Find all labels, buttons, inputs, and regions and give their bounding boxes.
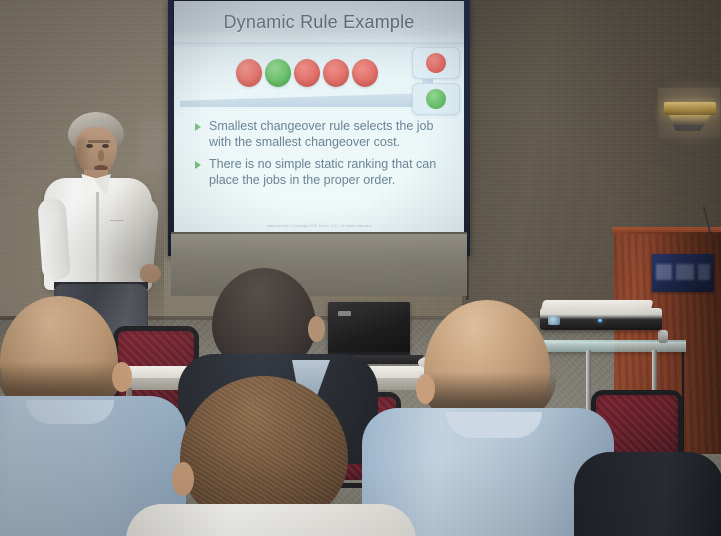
presenter-hand [140, 264, 161, 283]
audience-shirt-collar [446, 412, 542, 438]
job-circle-4 [323, 59, 349, 87]
audience-ear [308, 316, 325, 342]
slide-bullet-item: Smallest changeover rule selects the job… [194, 119, 452, 150]
job-circle-row [236, 59, 376, 93]
slide-bullet-item: There is no simple static ranking that c… [194, 157, 452, 188]
podium-top-edge [612, 227, 721, 234]
sconce-lamp-icon [664, 102, 716, 115]
slide-vignette [174, 1, 464, 235]
audience-member [156, 376, 386, 536]
presenter-shirt-placket [96, 192, 99, 288]
screen-frame-right [464, 0, 470, 256]
audience-member [574, 452, 721, 536]
legend-box-red [412, 47, 460, 79]
slide-footer-copyright: www.xyz.com | Copyright 2011 Server LLC … [174, 224, 464, 228]
audience-ear [112, 362, 132, 392]
bullet-triangle-icon [195, 161, 201, 169]
projected-slide: Dynamic Rule Example [174, 1, 464, 235]
projection-screen-assembly: Dynamic Rule Example [168, 0, 470, 298]
slide-sheen [174, 1, 464, 235]
conveyor-band-graphic [180, 93, 432, 107]
presenter-nose [98, 150, 104, 161]
podium-plaque [652, 254, 714, 292]
job-circle-2 [265, 59, 291, 87]
job-circle-1 [236, 59, 262, 87]
presenter-brow [88, 140, 110, 143]
presenter-arm-left [37, 197, 71, 281]
slide-title: Dynamic Rule Example [174, 12, 464, 33]
audience-ear [416, 374, 435, 404]
screen-frame-left [168, 0, 173, 256]
audience-ear [172, 462, 194, 496]
audience-torso [574, 452, 721, 536]
audience-shirt-collar [26, 400, 114, 424]
presenter-eye-right [102, 144, 109, 148]
slide-bullet-text: Smallest changeover rule selects the job… [209, 119, 433, 149]
legend-dot-green-icon [426, 89, 446, 109]
bullet-triangle-icon [195, 123, 201, 131]
job-circle-5 [352, 59, 378, 87]
legend-dot-red-icon [426, 53, 446, 73]
slide-bullet-text: There is no simple static ranking that c… [209, 157, 436, 187]
legend-box-green [412, 83, 460, 115]
presentation-photo-scene: Dynamic Rule Example [0, 0, 721, 536]
audience-member [0, 296, 170, 536]
podium-plaque-text [656, 264, 710, 280]
cart-knob [658, 330, 668, 343]
job-circle-3 [294, 59, 320, 87]
presenter-eye-left [86, 144, 93, 148]
slide-bullet-list: Smallest changeover rule selects the job… [194, 119, 452, 195]
slide-legend [412, 47, 460, 115]
audience-torso [126, 504, 416, 536]
